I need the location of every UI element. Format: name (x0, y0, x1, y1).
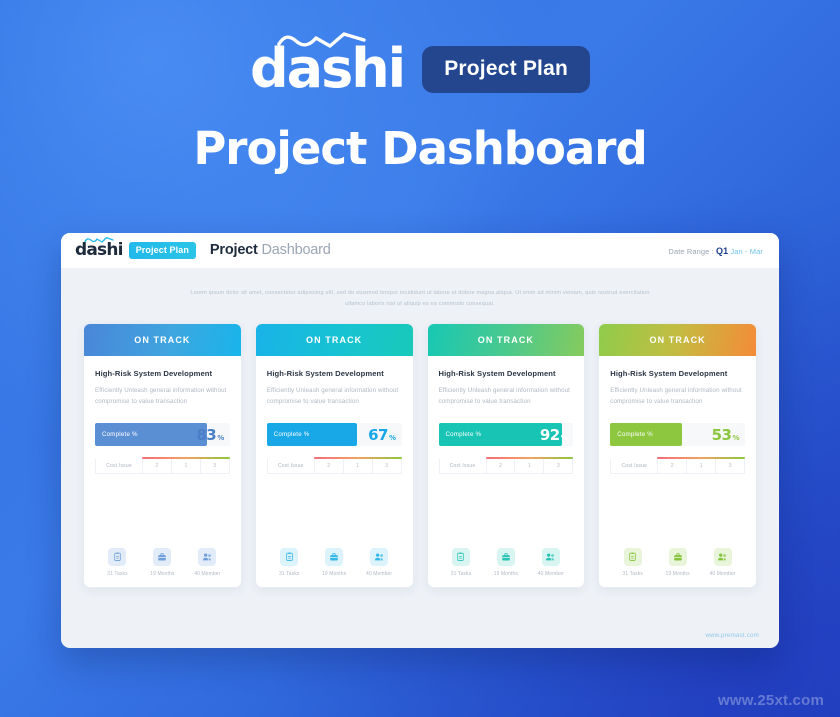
people-icon (370, 548, 388, 566)
cost-issue-row: Cost Issue213 (610, 457, 745, 474)
cost-cell: 1 (687, 459, 716, 473)
stat-label: 19 Months (150, 571, 174, 577)
stat-item[interactable]: 19 Months (483, 548, 528, 577)
stat-label: 31 Tasks (451, 571, 471, 577)
status-card[interactable]: ON TRACKHigh-Risk System DevelopmentEffi… (255, 323, 414, 588)
dashi-logo: dashi (250, 42, 404, 96)
card-title: High-Risk System Development (267, 369, 402, 379)
date-range-months: Jan - Mar (730, 247, 763, 256)
cost-cells: Cost Issue213 (610, 459, 745, 474)
cost-issue-label: Cost Issue (96, 459, 143, 473)
progress-bar[interactable]: Complete %67% (267, 423, 402, 446)
slide-title-light: Dashboard (262, 242, 331, 258)
intro-paragraph: Lorem ipsum dolor sit amet, consectetur … (187, 288, 653, 310)
slide-title: Project Dashboard (210, 243, 331, 258)
progress-bar[interactable]: Complete %53% (610, 423, 745, 446)
briefcase-icon (497, 548, 515, 566)
card-body: High-Risk System DevelopmentEfficiently … (428, 356, 585, 587)
cost-issue-label: Cost Issue (440, 459, 487, 473)
progress-bar[interactable]: Complete %83% (95, 423, 230, 446)
cost-cell: 1 (515, 459, 544, 473)
cost-cells: Cost Issue213 (267, 459, 402, 474)
slide-project-plan-badge: Project Plan (129, 242, 196, 259)
date-range-label: Date Range : (668, 247, 713, 256)
cost-cell: 3 (201, 459, 229, 473)
stats-row: 31 Tasks19 Months40 Member (267, 538, 402, 577)
page-title: Project Dashboard (0, 122, 840, 175)
card-description: Efficiently Unleash general information … (439, 386, 574, 408)
cost-issue-row: Cost Issue213 (439, 457, 574, 474)
stat-label: 40 Member (194, 571, 220, 577)
stat-label: 19 Months (494, 571, 518, 577)
cost-cell: 3 (373, 459, 401, 473)
hero-section: dashi Project Plan Project Dashboard (0, 0, 840, 175)
stat-item[interactable]: 40 Member (357, 548, 402, 577)
cost-cell: 1 (344, 459, 373, 473)
stat-label: 31 Tasks (622, 571, 642, 577)
cost-cell: 3 (716, 459, 744, 473)
status-card-list: ON TRACKHigh-Risk System DevelopmentEffi… (83, 323, 757, 588)
slide-header: dashi Project Plan Project Dashboard Dat… (61, 233, 779, 269)
clipboard-icon (280, 548, 298, 566)
card-body: High-Risk System DevelopmentEfficiently … (256, 356, 413, 587)
stat-item[interactable]: 31 Tasks (439, 548, 484, 577)
progress-value: 83% (196, 426, 223, 444)
hero-project-plan-badge: Project Plan (422, 46, 590, 93)
status-card[interactable]: ON TRACKHigh-Risk System DevelopmentEffi… (83, 323, 242, 588)
stat-label: 19 Months (666, 571, 690, 577)
cost-cell: 2 (315, 459, 344, 473)
card-description: Efficiently Unleash general information … (610, 386, 745, 408)
slide-footer-url[interactable]: www.premast.com (705, 632, 759, 639)
stat-item[interactable]: 40 Member (528, 548, 573, 577)
briefcase-icon (153, 548, 171, 566)
status-card[interactable]: ON TRACKHigh-Risk System DevelopmentEffi… (427, 323, 586, 588)
card-description: Efficiently Unleash general information … (267, 386, 402, 408)
clipboard-icon (108, 548, 126, 566)
progress-value: 92% (540, 426, 567, 444)
stat-item[interactable]: 19 Months (312, 548, 357, 577)
progress-label: Complete % (267, 431, 310, 438)
progress-value: 67% (368, 426, 395, 444)
stat-item[interactable]: 31 Tasks (267, 548, 312, 577)
card-title: High-Risk System Development (95, 369, 230, 379)
stats-row: 31 Tasks19 Months40 Member (610, 538, 745, 577)
card-title: High-Risk System Development (610, 369, 745, 379)
cost-cell: 2 (658, 459, 687, 473)
people-icon (714, 548, 732, 566)
briefcase-icon (325, 548, 343, 566)
stat-item[interactable]: 40 Member (700, 548, 745, 577)
slide-body: Lorem ipsum dolor sit amet, consectetur … (61, 288, 779, 588)
status-badge: ON TRACK (84, 324, 241, 356)
card-body: High-Risk System DevelopmentEfficiently … (599, 356, 756, 587)
clipboard-icon (452, 548, 470, 566)
progress-label: Complete % (439, 431, 482, 438)
percent-symbol: % (732, 434, 739, 442)
cost-issue-row: Cost Issue213 (267, 457, 402, 474)
cost-issue-row: Cost Issue213 (95, 457, 230, 474)
stat-item[interactable]: 40 Member (185, 548, 230, 577)
percent-symbol: % (217, 434, 224, 442)
stat-label: 40 Member (538, 571, 564, 577)
progress-number: 53 (712, 426, 732, 444)
hero-logo-row: dashi Project Plan (0, 38, 840, 100)
progress-value: 53% (712, 426, 739, 444)
status-card[interactable]: ON TRACKHigh-Risk System DevelopmentEffi… (598, 323, 757, 588)
progress-label: Complete % (95, 431, 138, 438)
stat-label: 19 Months (322, 571, 346, 577)
stat-item[interactable]: 19 Months (655, 548, 700, 577)
stat-label: 40 Member (709, 571, 735, 577)
stat-label: 31 Tasks (279, 571, 299, 577)
stats-row: 31 Tasks19 Months40 Member (439, 538, 574, 577)
card-body: High-Risk System DevelopmentEfficiently … (84, 356, 241, 587)
progress-number: 67 (368, 426, 388, 444)
cost-cell: 1 (172, 459, 201, 473)
dashboard-slide: dashi Project Plan Project Dashboard Dat… (61, 233, 779, 648)
briefcase-icon (669, 548, 687, 566)
progress-number: 92 (540, 426, 560, 444)
percent-symbol: % (389, 434, 396, 442)
percent-symbol: % (561, 434, 568, 442)
stat-label: 40 Member (366, 571, 392, 577)
watermark: www.25xt.com (718, 692, 824, 709)
stat-item[interactable]: 31 Tasks (95, 548, 140, 577)
squiggle-icon (84, 236, 114, 244)
stat-label: 31 Tasks (107, 571, 127, 577)
people-icon (198, 548, 216, 566)
people-icon (542, 548, 560, 566)
status-badge: ON TRACK (428, 324, 585, 356)
status-badge: ON TRACK (599, 324, 756, 356)
cost-issue-label: Cost Issue (611, 459, 658, 473)
progress-bar[interactable]: Complete %92% (439, 423, 574, 446)
stat-item[interactable]: 31 Tasks (610, 548, 655, 577)
date-range-quarter: Q1 (716, 246, 728, 256)
progress-number: 83 (196, 426, 216, 444)
clipboard-icon (624, 548, 642, 566)
stats-row: 31 Tasks19 Months40 Member (95, 538, 230, 577)
status-badge: ON TRACK (256, 324, 413, 356)
cost-cells: Cost Issue213 (439, 459, 574, 474)
card-description: Efficiently Unleash general information … (95, 386, 230, 408)
cost-cell: 2 (143, 459, 172, 473)
slide-dashi-logo: dashi (75, 242, 123, 259)
cost-cell: 3 (544, 459, 572, 473)
cost-cell: 2 (487, 459, 516, 473)
stat-item[interactable]: 19 Months (140, 548, 185, 577)
card-title: High-Risk System Development (439, 369, 574, 379)
slide-title-bold: Project (210, 242, 258, 258)
cost-cells: Cost Issue213 (95, 459, 230, 474)
cost-issue-label: Cost Issue (268, 459, 315, 473)
date-range[interactable]: Date Range : Q1 Jan - Mar (668, 246, 763, 256)
progress-label: Complete % (610, 431, 653, 438)
squiggle-icon (276, 29, 368, 51)
